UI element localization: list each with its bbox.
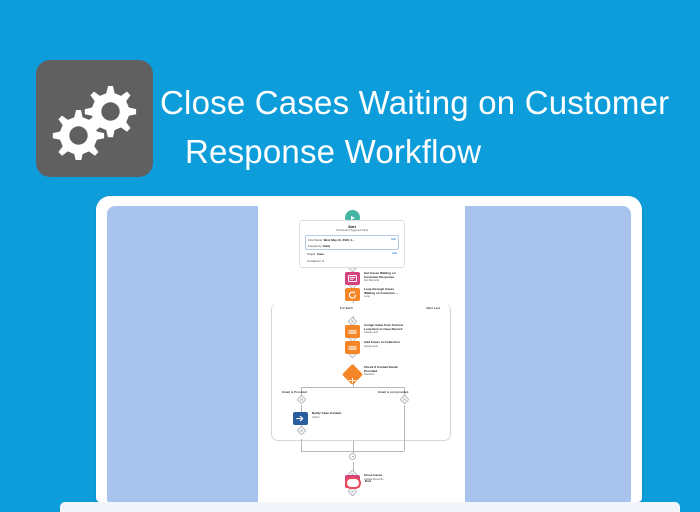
header: Close Cases Waiting on Customer Response… [0,0,700,190]
connector [404,405,405,451]
start-schedule-group[interactable]: First Starts: Wed, May 10, 2023, 1... Ed… [305,235,399,250]
node-sublabel: Assignment [364,345,378,348]
title-line-1: Close Cases Waiting on Customer [160,84,669,121]
node-sublabel: Decision [364,373,374,376]
title-line-2: Response Workflow [160,127,695,176]
laptop-lid: Start Schedule-Triggered Flow First Star… [96,196,642,502]
merge-node [349,453,356,460]
branch-label-for-each: For Each [340,306,353,310]
connector-branch-split [301,387,404,388]
start-row-conditions: Conditions: 1 [305,258,399,264]
flow-canvas[interactable]: Start Schedule-Triggered Flow First Star… [258,206,465,502]
connector [353,441,354,451]
branch-label-after-last: After Last [426,306,440,310]
start-subtitle: Schedule-Triggered Flow [305,229,399,233]
branch-label-email-provided: Email is Provided [282,390,307,394]
loop-icon[interactable] [345,288,360,301]
laptop-base [60,502,680,512]
row-label: Conditions: [307,259,321,263]
action-icon[interactable] [293,412,308,425]
laptop-screen: Start Schedule-Triggered Flow First Star… [107,206,631,502]
gears-icon [36,60,153,177]
end-node-icon [345,477,361,489]
page-title: Close Cases Waiting on Customer Response… [160,78,695,176]
row-value: Daily [323,244,330,248]
connector [301,439,302,451]
start-row-frequency: Frequency: Daily [306,243,398,249]
edit-link[interactable]: Edit [391,238,396,242]
node-sublabel: Loop [364,295,370,298]
assignment-icon[interactable] [345,341,360,354]
start-element[interactable]: Start Schedule-Triggered Flow First Star… [299,220,405,268]
edit-link[interactable]: Edit [392,252,397,256]
row-label: Frequency: [308,244,322,248]
slide-canvas: Close Cases Waiting on Customer Response… [0,0,700,512]
branch-label-email-not-provided: Email is not provided [378,390,408,394]
connector [301,405,302,412]
row-value: Wed, May 10, 2023, 1... [324,238,355,242]
node-sublabel: Get Records [364,279,379,282]
row-label: First Starts: [308,238,323,242]
row-value: 1 [322,259,324,263]
assignment-icon[interactable] [345,325,360,338]
flow-diagram: Start Schedule-Triggered Flow First Star… [258,206,465,502]
get-records-icon[interactable] [345,272,360,285]
row-value: Case [317,252,324,256]
node-sublabel: Assignment [364,331,378,334]
end-label: End [365,480,371,484]
node-sublabel: Action [312,416,319,419]
row-label: Object: [307,252,316,256]
